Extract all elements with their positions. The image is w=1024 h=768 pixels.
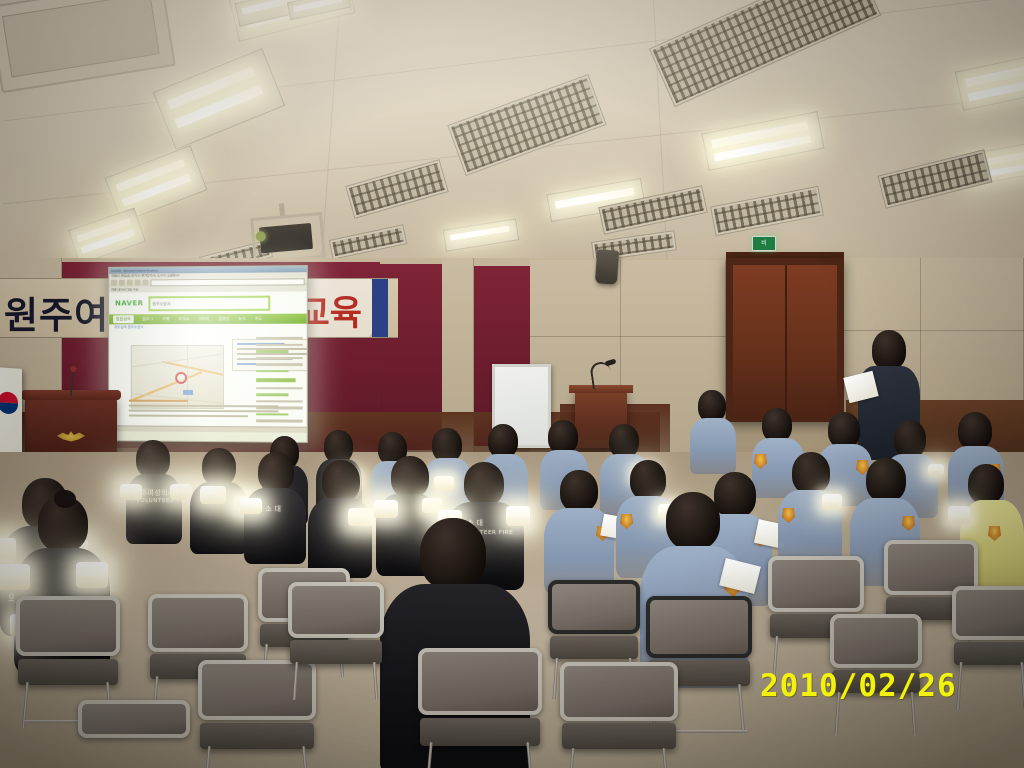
browser-home-button[interactable]	[143, 279, 149, 285]
naver-nav-item-0[interactable]: 통합검색	[113, 315, 133, 323]
chair[interactable]	[16, 596, 120, 704]
browser-stop-button[interactable]	[127, 280, 133, 286]
ceiling-light-fixture	[228, 0, 356, 42]
ceiling-projector	[250, 212, 326, 264]
naver-search-box[interactable]: 원주소방서	[148, 295, 270, 311]
attendee: 의 소 대	[244, 452, 306, 556]
ceiling-light-fixture	[153, 48, 286, 150]
naver-nav-item-6[interactable]: 뉴스	[238, 316, 245, 322]
attendee	[190, 448, 248, 546]
chair[interactable]	[78, 700, 190, 768]
ceiling-light-fixture-off	[649, 0, 881, 107]
naver-results-body	[109, 331, 307, 427]
photograph: 비 원주여성 교육 NAVER - Microsoft Internet Exp…	[0, 0, 1024, 768]
browser-forward-button[interactable]	[119, 280, 125, 286]
ceiling	[0, 0, 1024, 268]
chair[interactable]	[288, 582, 384, 682]
attendee	[778, 452, 842, 566]
banner-blue-stripe	[372, 279, 388, 337]
projection-screen: NAVER - Microsoft Internet Explorer 파일(F…	[108, 265, 308, 443]
ceiling-light-fixture-off	[598, 185, 708, 234]
ceiling-light-fixture-off	[345, 159, 449, 219]
ceiling-light-fixture-off	[329, 224, 407, 259]
naver-nav-item-3[interactable]: 지식iN	[178, 316, 189, 322]
ceiling-light-fixture	[546, 178, 645, 222]
naver-nav-item-4[interactable]: 이미지	[198, 316, 209, 322]
naver-nav-item-2[interactable]: 카페	[162, 316, 169, 322]
ceiling-light-fixture-off	[710, 186, 824, 236]
ceiling-light-fixture	[234, 0, 317, 27]
naver-logo: NAVER	[115, 299, 143, 307]
exit-sign: 비	[752, 236, 776, 251]
air-conditioner-unit	[0, 0, 176, 93]
camera-date-stamp: 2010/02/26	[760, 668, 957, 704]
naver-header: NAVER 원주소방서	[109, 291, 307, 314]
browser-address-bar[interactable]	[150, 278, 304, 286]
naver-nav-item-7[interactable]: 지도	[255, 316, 262, 322]
ceiling-light-fixture	[68, 208, 146, 265]
naver-nav-bar: 통합검색 블로그 카페 지식iN 이미지 동영상 뉴스 지도	[109, 314, 307, 325]
ceiling-light-fixture	[104, 145, 207, 223]
exit-sign-label: 비	[753, 237, 775, 250]
browser-refresh-button[interactable]	[135, 279, 141, 285]
naver-result-text	[129, 400, 279, 421]
ceiling-light-fixture-off	[878, 149, 993, 209]
podium-emblem-icon	[57, 430, 85, 443]
wooden-double-doors[interactable]	[726, 258, 844, 422]
ceiling-light-fixture	[955, 53, 1024, 111]
chair[interactable]	[418, 648, 542, 768]
naver-nav-item-5[interactable]: 동영상	[218, 316, 229, 322]
naver-nav-item-1[interactable]: 블로그	[142, 316, 153, 322]
chair[interactable]	[560, 662, 678, 768]
ceiling-light-fixture-off	[447, 74, 606, 176]
attendee: 원주여성의소대 VOLUNTEER FIRE	[126, 440, 182, 536]
ceiling-light-fixture	[287, 0, 351, 20]
ceiling-light-fixture	[443, 218, 520, 251]
map-pin-icon	[175, 372, 187, 384]
ceiling-light-fixture	[962, 142, 1024, 187]
attendee	[544, 470, 614, 588]
attendee	[690, 390, 736, 468]
wall-speaker	[595, 249, 619, 284]
attendee	[308, 460, 372, 568]
naver-search-value: 원주소방서	[150, 297, 268, 309]
ceiling-light-fixture	[701, 111, 824, 171]
browser-back-button[interactable]	[111, 280, 117, 286]
chair[interactable]	[952, 586, 1024, 682]
